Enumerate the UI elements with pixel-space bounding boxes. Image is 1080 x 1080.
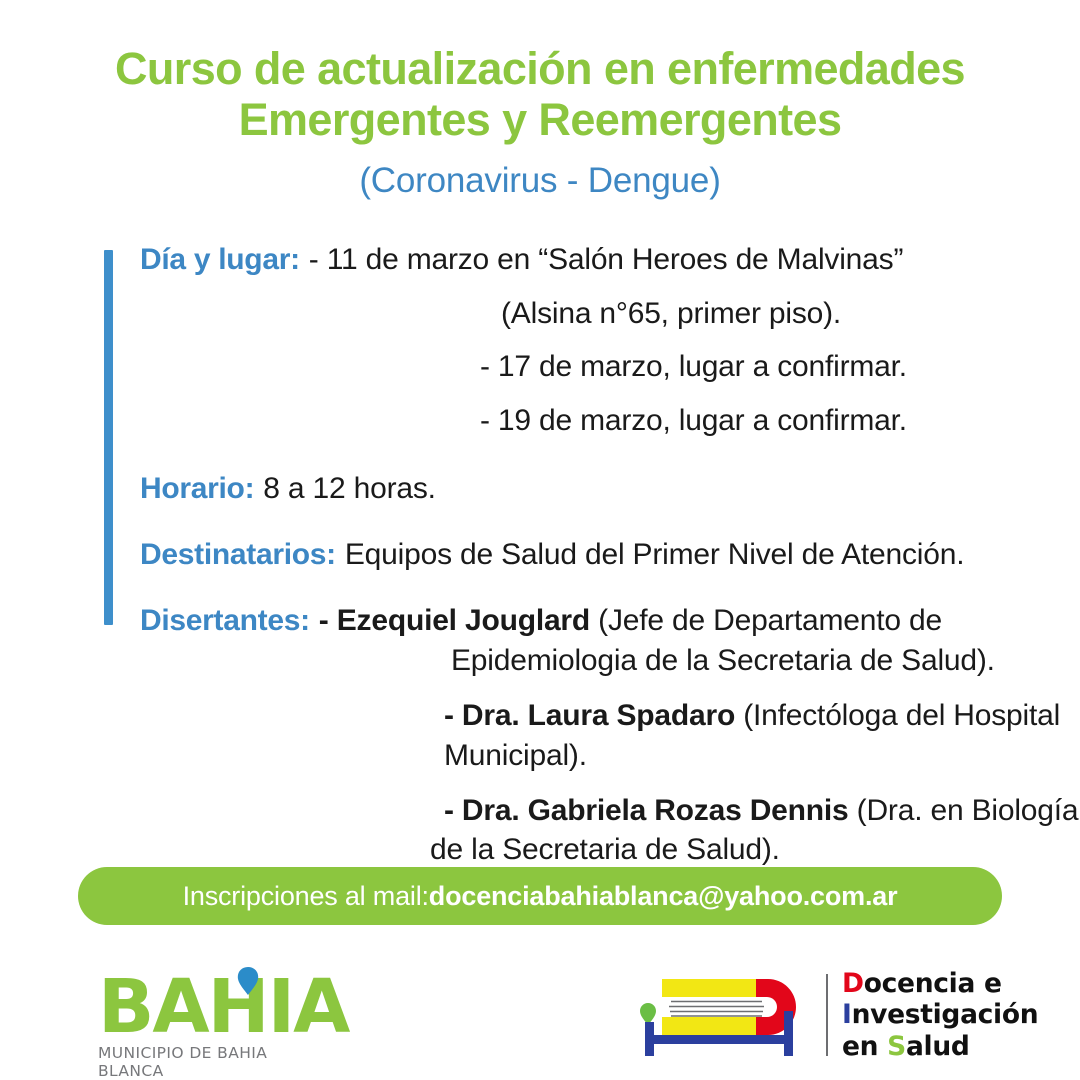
detail-row-destinatarios: Destinatarios: Equipos de Salud del Prim… [100, 535, 1080, 575]
label-destinatarios: Destinatarios: [140, 535, 336, 575]
speaker-entry-3: - Dra. Gabriela Rozas Dennis (Dra. en Bi… [418, 791, 1080, 871]
speaker-2-name: - Dra. Laura Spadaro [444, 699, 735, 732]
dis-line-1: Docencia e [842, 968, 1038, 999]
label-dia-lugar: Día y lugar: [140, 240, 300, 280]
dis-accent-i: I [842, 999, 852, 1030]
dis-line-3-rest: alud [906, 1031, 970, 1062]
speaker-3-role-cont: de la Secretaria de Salud). [418, 830, 1080, 870]
poster-header: Curso de actualización en enfermedades E… [0, 0, 1080, 202]
dis-line-2-rest: nvestigación [852, 999, 1039, 1030]
speaker-1-role: (Jefe de Departamento de [590, 604, 942, 637]
registration-prefix: Inscripciones al mail: [183, 881, 429, 912]
dia-lugar-line-2: - 17 de marzo, lugar a confirmar. [468, 347, 1080, 387]
value-horario: 8 a 12 horas. [254, 469, 436, 509]
footer-logos: BAHIA MUNICIPIO DE BAHIA BLANCA [0, 955, 1080, 1080]
page-subtitle: (Coronavirus - Dengue) [0, 160, 1080, 202]
speaker-3-role: (Dra. en Biología [849, 794, 1079, 827]
speaker-1-role-cont: Epidemiologia de la Secretaria de Salud)… [418, 641, 1080, 681]
accent-bar [104, 250, 113, 625]
label-horario: Horario: [140, 469, 254, 509]
registration-banner[interactable]: Inscripciones al mail: docenciabahiablan… [78, 867, 1002, 925]
book-on-hospital-bed-icon [640, 967, 822, 1063]
page-title: Curso de actualización en enfermedades E… [60, 44, 1020, 146]
dis-line-2: Investigación [842, 999, 1038, 1030]
bahia-wordmark-text: BAHIA [98, 964, 348, 1050]
detail-row-dia-lugar: Día y lugar: - 11 de marzo en “Salón Her… [100, 240, 1080, 280]
dis-line-1-rest: ocencia e [864, 968, 1002, 999]
speaker-2-role: (Infectóloga del Hospital [735, 699, 1060, 732]
speaker-entry-2: - Dra. Laura Spadaro (Infectóloga del Ho… [418, 696, 1080, 776]
title-line-2: Emergentes y Reemergentes [60, 95, 1020, 146]
registration-email[interactable]: docenciabahiablanca@yahoo.com.ar [429, 881, 898, 912]
value-disertante-1: - Ezequiel Jouglard (Jefe de Departament… [310, 601, 942, 641]
dis-accent-d: D [842, 968, 864, 999]
speaker-2-role-cont: Municipal). [418, 736, 1080, 776]
dia-lugar-line-3: - 19 de marzo, lugar a confirmar. [468, 401, 1080, 441]
dia-lugar-extra-lines: (Alsina n°65, primer piso). - 17 de marz… [100, 294, 1080, 442]
logo-divider [826, 974, 828, 1056]
value-destinatarios: Equipos de Salud del Primer Nivel de Ate… [336, 535, 965, 575]
dis-logo-text: Docencia e Investigación en Salud [842, 968, 1038, 1062]
speaker-3-name: - Dra. Gabriela Rozas Dennis [444, 794, 849, 827]
detail-row-disertantes: Disertantes: - Ezequiel Jouglard (Jefe d… [100, 601, 1080, 641]
title-line-1: Curso de actualización en enfermedades [60, 44, 1020, 95]
speaker-1-name: - Ezequiel Jouglard [319, 604, 590, 637]
bahia-wordmark: BAHIA [98, 973, 328, 1041]
dis-accent-s: S [887, 1031, 906, 1062]
detail-row-horario: Horario: 8 a 12 horas. [100, 469, 1080, 509]
map-pin-icon [237, 967, 259, 995]
docencia-investigacion-logo: Docencia e Investigación en Salud [640, 967, 1038, 1063]
dis-line-3-prefix: en [842, 1031, 887, 1062]
dis-line-3: en Salud [842, 1031, 1038, 1062]
value-dia-lugar-first: - 11 de marzo en “Salón Heroes de Malvin… [300, 240, 903, 280]
label-disertantes: Disertantes: [140, 601, 310, 641]
disertantes-extra: Epidemiologia de la Secretaria de Salud)… [100, 641, 1080, 870]
dia-lugar-line-1: (Alsina n°65, primer piso). [468, 294, 1080, 334]
event-details: Día y lugar: - 11 de marzo en “Salón Her… [0, 240, 1080, 871]
bahia-municipality-logo: BAHIA MUNICIPIO DE BAHIA BLANCA [98, 973, 328, 1080]
